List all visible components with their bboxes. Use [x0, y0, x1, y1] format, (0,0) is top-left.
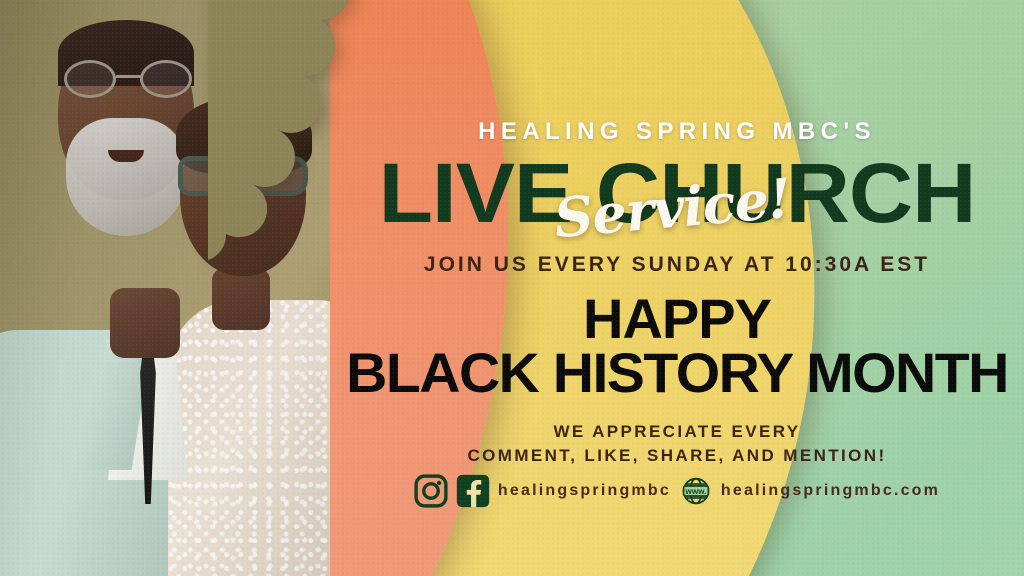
globe-www-icon[interactable]: www.	[679, 474, 713, 508]
website-url[interactable]: healingspringmbc.com	[721, 482, 940, 500]
announcement-block: HAPPY BLACK HISTORY MONTH	[330, 292, 1024, 400]
flyer-canvas: HEALING SPRING MBC'S LIVE CHURCH Service…	[0, 0, 1024, 576]
social-row: healingspringmbc www. healingspringmbc.c…	[330, 474, 1024, 508]
social-handle[interactable]: healingspringmbc	[498, 482, 671, 500]
content-column: HEALING SPRING MBC'S LIVE CHURCH Service…	[330, 0, 1024, 576]
announcement-line-2: BLACK HISTORY MONTH	[323, 346, 1024, 400]
service-time-text: JOIN US EVERY SUNDAY AT 10:30A EST	[330, 253, 1024, 277]
instagram-icon[interactable]	[414, 474, 448, 508]
facebook-icon[interactable]	[456, 474, 490, 508]
appreciation-block: WE APPRECIATE EVERY COMMENT, LIKE, SHARE…	[330, 420, 1024, 468]
globe-www-label: www.	[684, 487, 706, 496]
appreciation-line-2: COMMENT, LIKE, SHARE, AND MENTION!	[330, 444, 1024, 468]
announcement-line-1: HAPPY	[330, 292, 1024, 346]
eyebrow-title: HEALING SPRING MBC'S	[330, 118, 1024, 146]
appreciation-line-1: WE APPRECIATE EVERY	[330, 420, 1024, 444]
